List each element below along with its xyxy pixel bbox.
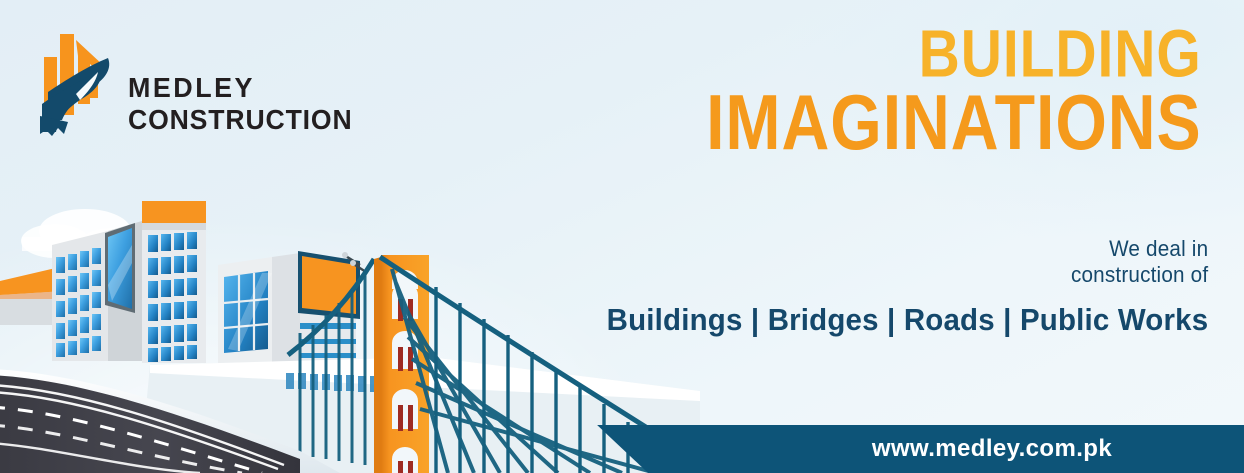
brand-logo[interactable]: MEDLEY CONSTRUCTION <box>34 26 364 138</box>
tagline-intro-line-2: construction of <box>613 262 1208 288</box>
tagline-intro: We deal in construction of <box>613 236 1208 288</box>
website-url[interactable]: www.medley.com.pk <box>784 425 1244 473</box>
tagline-services-list: Buildings | Bridges | Roads | Public Wor… <box>606 302 1208 338</box>
brand-name-line-1: MEDLEY <box>128 74 355 102</box>
headline-line-building: BUILDING <box>706 24 1202 88</box>
banner-root: MEDLEY CONSTRUCTION BUILDING IMAGINATION… <box>0 0 1244 473</box>
office-building-right <box>218 253 300 365</box>
tagline-block: We deal in construction of Buildings | B… <box>575 236 1208 338</box>
brand-logo-wordmark: MEDLEY CONSTRUCTION <box>128 74 364 134</box>
office-building-center <box>142 201 206 363</box>
tagline-intro-line-1: We deal in <box>613 236 1208 262</box>
headline-block: BUILDING IMAGINATIONS <box>663 26 1202 157</box>
office-building-left <box>52 221 142 361</box>
building-road-logo-icon <box>34 26 120 138</box>
headline-line-imaginations: IMAGINATIONS <box>706 86 1202 160</box>
brand-name-line-2: CONSTRUCTION <box>128 106 353 134</box>
